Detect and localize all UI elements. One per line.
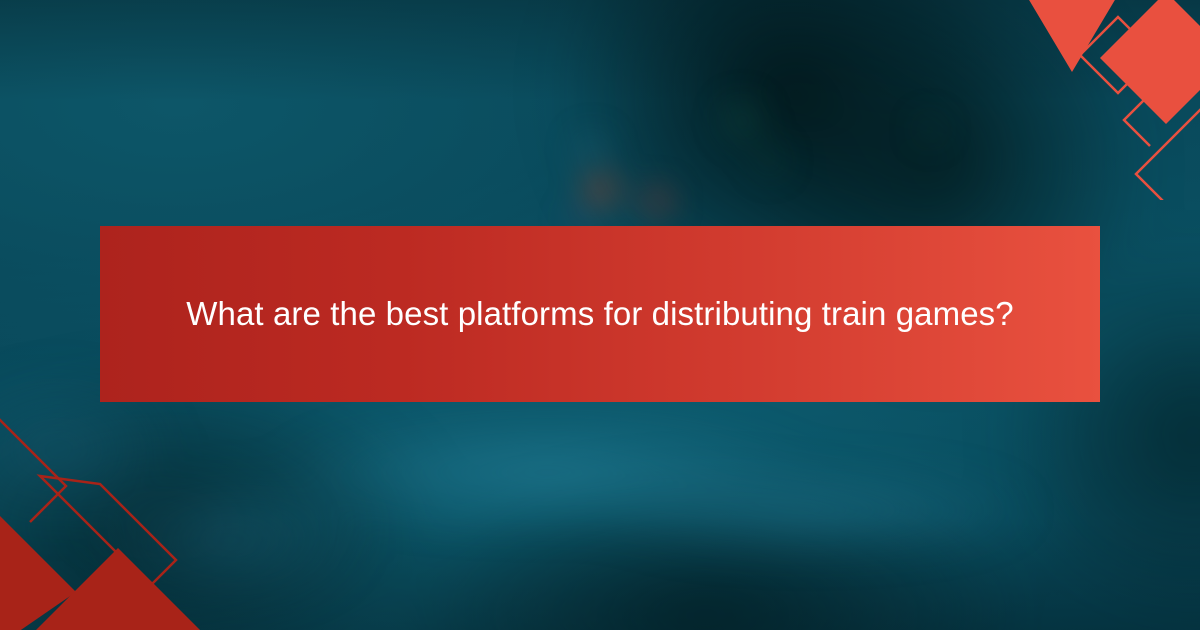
headline-banner: What are the best platforms for distribu…: [100, 226, 1100, 402]
page-title: What are the best platforms for distribu…: [156, 286, 1044, 341]
social-card: What are the best platforms for distribu…: [0, 0, 1200, 630]
